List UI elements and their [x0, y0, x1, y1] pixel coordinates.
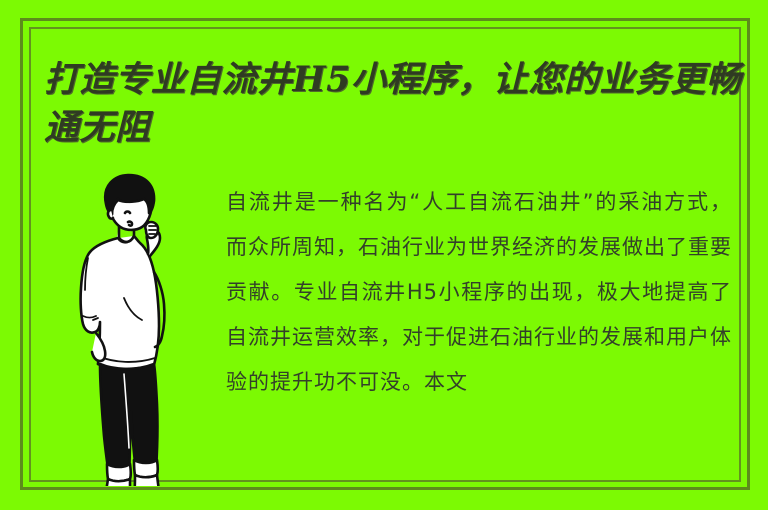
- poster-canvas: 打造专业自流井H5小程序，让您的业务更畅通无阻: [0, 0, 768, 510]
- page-title: 打造专业自流井H5小程序，让您的业务更畅通无阻: [44, 56, 744, 152]
- body-paragraph: 自流井是一种名为“人工自流石油井”的采油方式，而众所周知，石油行业为世界经济的发…: [226, 180, 732, 405]
- standing-person-illustration: [62, 168, 224, 486]
- person-figure-icon: [62, 168, 224, 486]
